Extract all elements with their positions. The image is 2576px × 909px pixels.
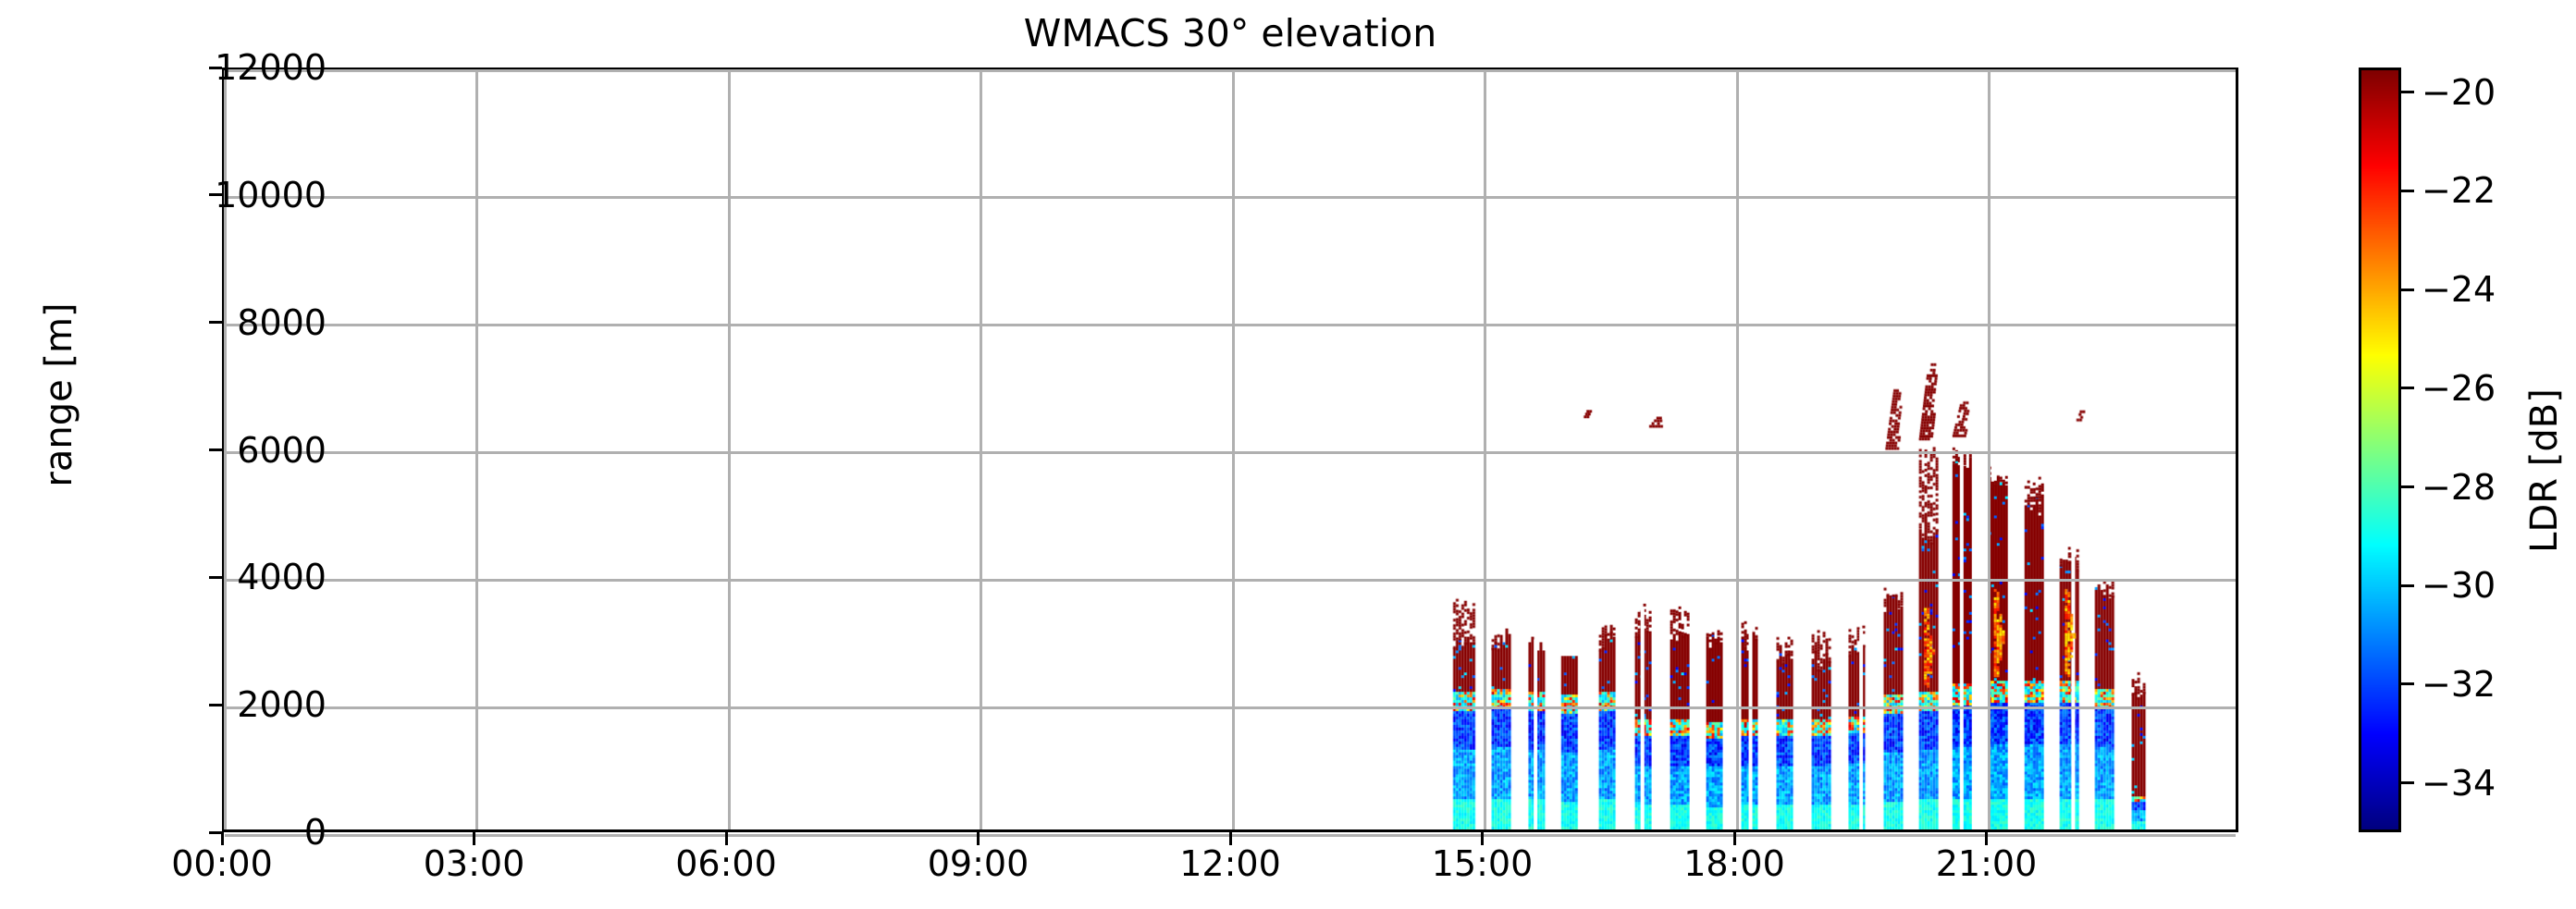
colorbar-label: LDR [dB] bbox=[2523, 193, 2566, 748]
colorbar-tick-mark bbox=[2401, 584, 2414, 587]
colorbar bbox=[2359, 68, 2401, 832]
colorbar-tick-mark bbox=[2401, 91, 2414, 93]
y-tick-label: 12000 bbox=[215, 50, 327, 85]
colorbar-tick-mark bbox=[2401, 781, 2414, 784]
page-title: WMACS 30° elevation bbox=[222, 11, 2238, 55]
x-tick-mark bbox=[977, 832, 980, 845]
x-tick-label: 12:00 bbox=[1179, 846, 1281, 881]
x-tick-mark bbox=[1733, 832, 1736, 845]
plot-axes bbox=[222, 68, 2238, 832]
x-tick-label: 06:00 bbox=[675, 846, 777, 881]
y-tick-label: 6000 bbox=[237, 433, 327, 468]
colorbar-tick-mark bbox=[2401, 485, 2414, 488]
colorbar-tick-mark bbox=[2401, 190, 2414, 192]
y-axis-label: range [m] bbox=[38, 25, 80, 765]
x-tick-label: 18:00 bbox=[1683, 846, 1785, 881]
colorbar-tick-label: −24 bbox=[2422, 272, 2496, 307]
y-tick-mark bbox=[209, 67, 222, 69]
x-tick-mark bbox=[1481, 832, 1484, 845]
y-tick-mark bbox=[209, 576, 222, 579]
x-tick-label: 09:00 bbox=[928, 846, 1029, 881]
x-tick-mark bbox=[473, 832, 475, 845]
heatmap-data-layer bbox=[225, 70, 2236, 829]
y-tick-mark bbox=[209, 193, 222, 196]
colorbar-tick-label: −32 bbox=[2422, 667, 2496, 702]
colorbar-tick-label: −30 bbox=[2422, 568, 2496, 603]
y-tick-mark bbox=[209, 448, 222, 451]
colorbar-tick-label: −34 bbox=[2422, 766, 2496, 801]
x-tick-mark bbox=[1229, 832, 1232, 845]
colorbar-tick-label: −22 bbox=[2422, 173, 2496, 208]
colorbar-tick-label: −26 bbox=[2422, 371, 2496, 406]
colorbar-tick-mark bbox=[2401, 387, 2414, 389]
x-tick-label: 21:00 bbox=[1936, 846, 2038, 881]
colorbar-tick-mark bbox=[2401, 682, 2414, 685]
x-tick-mark bbox=[725, 832, 728, 845]
colorbar-tick-label: −28 bbox=[2422, 470, 2496, 505]
y-tick-label: 10000 bbox=[215, 178, 327, 213]
colorbar-gradient bbox=[2361, 70, 2398, 829]
y-tick-label: 0 bbox=[304, 815, 327, 850]
y-tick-mark bbox=[209, 321, 222, 324]
x-tick-label: 00:00 bbox=[171, 846, 273, 881]
x-tick-mark bbox=[221, 832, 224, 845]
y-tick-label: 4000 bbox=[237, 559, 327, 595]
x-tick-mark bbox=[1985, 832, 1988, 845]
colorbar-tick-mark bbox=[2401, 289, 2414, 291]
y-tick-label: 8000 bbox=[237, 305, 327, 340]
y-tick-mark bbox=[209, 704, 222, 706]
y-tick-label: 2000 bbox=[237, 687, 327, 722]
x-tick-label: 15:00 bbox=[1432, 846, 1534, 881]
colorbar-tick-label: −20 bbox=[2422, 75, 2496, 110]
x-tick-label: 03:00 bbox=[424, 846, 525, 881]
figure-canvas: WMACS 30° elevation range [m] 0200040006… bbox=[0, 0, 2576, 909]
